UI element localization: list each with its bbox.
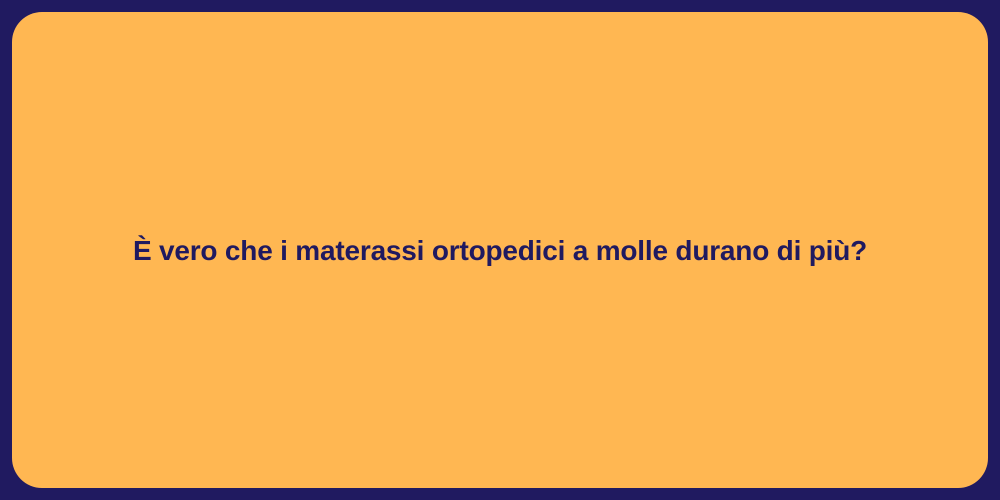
- page-title: È vero che i materassi ortopedici a moll…: [93, 233, 907, 268]
- hero-card: È vero che i materassi ortopedici a moll…: [12, 12, 988, 488]
- page-frame: È vero che i materassi ortopedici a moll…: [0, 0, 1000, 500]
